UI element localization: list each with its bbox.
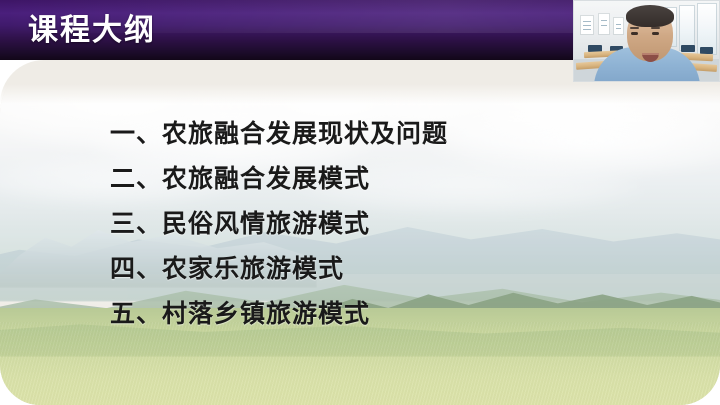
- webcam-scene: [574, 1, 719, 81]
- slide: 一、农旅融合发展现状及问题 二、农旅融合发展模式 三、民俗风情旅游模式 四、农家…: [0, 0, 720, 405]
- outline-item-2: 二、农旅融合发展模式: [110, 157, 580, 202]
- outline-item-1: 一、农旅融合发展现状及问题: [110, 112, 580, 157]
- webcam-light-glow: [574, 1, 719, 81]
- page-title: 课程大纲: [28, 13, 156, 49]
- outline-item-4: 四、农家乐旅游模式: [110, 247, 580, 292]
- outline-item-5: 五、村落乡镇旅游模式: [110, 292, 580, 337]
- outline-list: 一、农旅融合发展现状及问题 二、农旅融合发展模式 三、民俗风情旅游模式 四、农家…: [110, 112, 580, 337]
- presenter-webcam-overlay[interactable]: [573, 0, 720, 82]
- outline-item-3: 三、民俗风情旅游模式: [110, 202, 580, 247]
